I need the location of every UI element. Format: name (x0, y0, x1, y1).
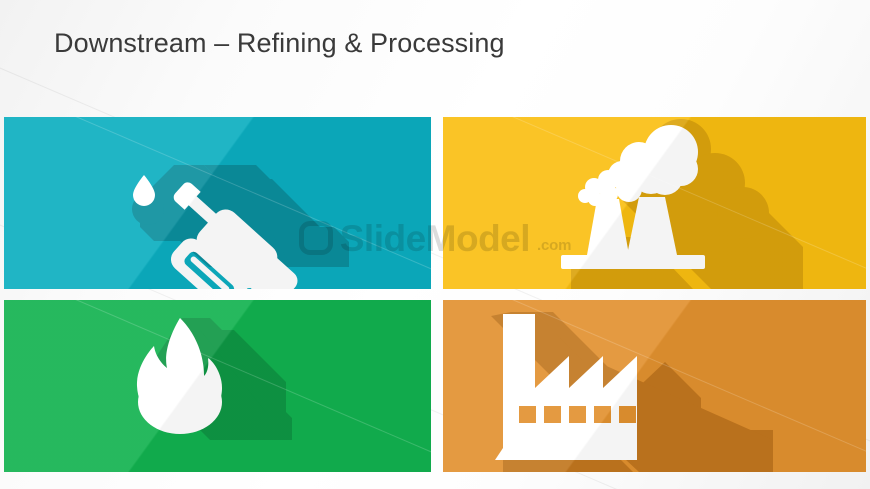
factory-icon (443, 300, 866, 472)
smokestack-icon (443, 117, 866, 289)
panel-fuel-nozzle[interactable] (4, 117, 431, 289)
panel-factory[interactable] (443, 300, 866, 472)
flame-icon (4, 300, 431, 472)
slide-canvas: Downstream – Refining & Processing (0, 0, 870, 489)
page-title: Downstream – Refining & Processing (54, 26, 505, 60)
fuel-nozzle-icon (4, 117, 431, 289)
panel-flame[interactable] (4, 300, 431, 472)
panel-refinery-smokestacks[interactable] (443, 117, 866, 289)
icon-panel-grid (4, 117, 866, 472)
